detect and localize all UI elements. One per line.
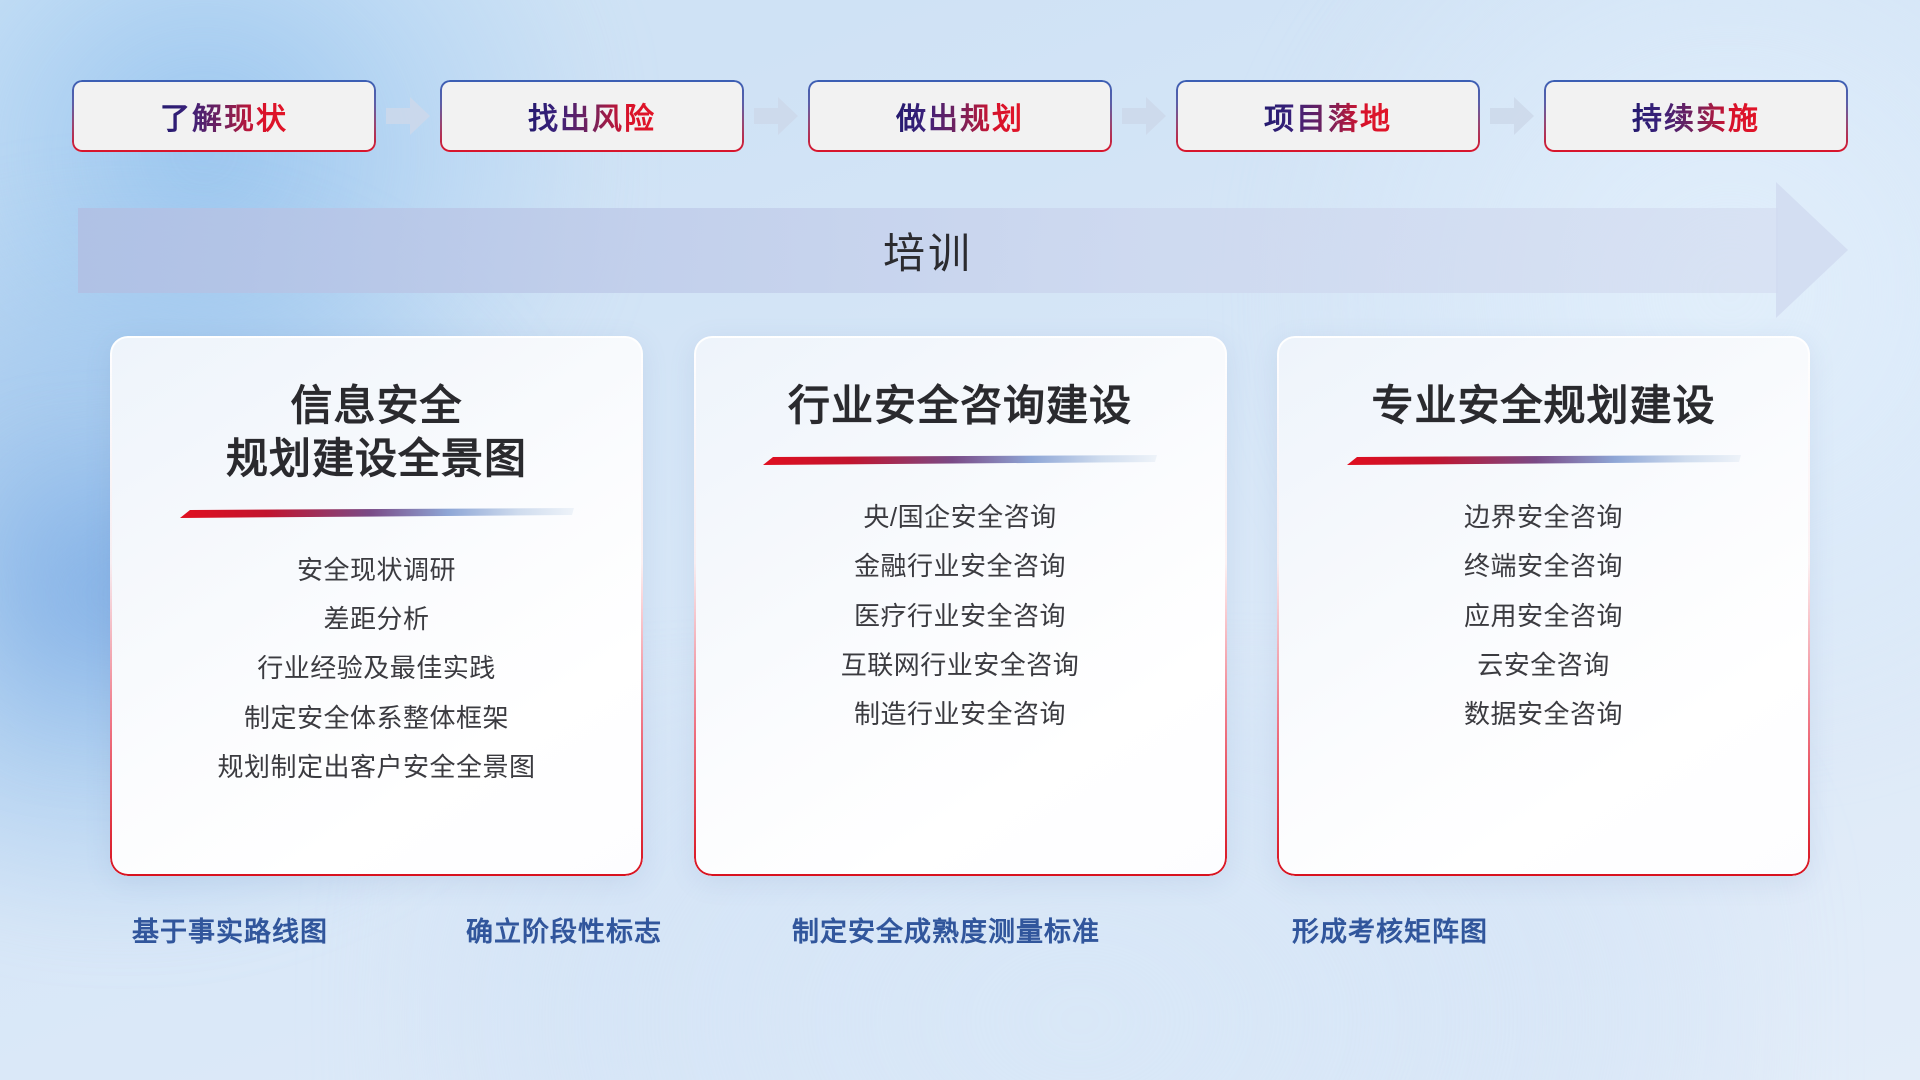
process-step-2[interactable]: 找出风险 xyxy=(440,80,744,152)
step-arrow-icon-3 xyxy=(1112,80,1176,152)
list-item[interactable]: 规划制定出客户安全全景图 xyxy=(217,747,535,787)
training-banner-title: 培训 xyxy=(78,208,1778,293)
feature-card-accent-rule xyxy=(180,508,574,520)
process-step-box[interactable]: 持续实施 xyxy=(1544,80,1848,152)
feature-card-3[interactable]: 专业安全规划建设边界安全咨询终端安全咨询应用安全咨询云安全咨询数据安全咨询 xyxy=(1277,336,1810,876)
feature-card-title: 行业安全咨询建设 xyxy=(788,380,1132,433)
footer-label-2: 确立阶段性标志 xyxy=(466,910,662,949)
list-item[interactable]: 央/国企安全咨询 xyxy=(863,497,1056,537)
process-step-3[interactable]: 做出规划 xyxy=(808,80,1112,152)
process-step-4[interactable]: 项目落地 xyxy=(1176,80,1480,152)
list-item[interactable]: 医疗行业安全咨询 xyxy=(854,596,1066,636)
process-step-box[interactable]: 找出风险 xyxy=(440,80,744,152)
list-item[interactable]: 金融行业安全咨询 xyxy=(854,546,1066,586)
process-step-label: 项目落地 xyxy=(1264,94,1392,138)
feature-card-title: 专业安全规划建设 xyxy=(1371,380,1715,433)
step-arrow-icon-2 xyxy=(744,80,808,152)
footer-label-row: 基于事实路线图确立阶段性标志制定安全成熟度测量标准形成考核矩阵图 xyxy=(0,910,1920,960)
list-item[interactable]: 数据安全咨询 xyxy=(1464,694,1623,734)
process-step-5[interactable]: 持续实施 xyxy=(1544,80,1848,152)
process-step-label: 找出风险 xyxy=(528,94,656,138)
process-step-label: 持续实施 xyxy=(1632,94,1760,138)
step-arrow-icon-1 xyxy=(376,80,440,152)
step-arrow-icon-4 xyxy=(1480,80,1544,152)
process-step-row: 了解现状找出风险做出规划项目落地持续实施 xyxy=(72,78,1848,154)
list-item[interactable]: 终端安全咨询 xyxy=(1464,546,1623,586)
feature-card-inner: 专业安全规划建设边界安全咨询终端安全咨询应用安全咨询云安全咨询数据安全咨询 xyxy=(1277,336,1810,876)
list-item[interactable]: 应用安全咨询 xyxy=(1464,596,1623,636)
feature-card-inner: 行业安全咨询建设央/国企安全咨询金融行业安全咨询医疗行业安全咨询互联网行业安全咨… xyxy=(694,336,1227,876)
process-step-box[interactable]: 了解现状 xyxy=(72,80,376,152)
list-item[interactable]: 制定安全体系整体框架 xyxy=(244,698,509,738)
slide-canvas: 了解现状找出风险做出规划项目落地持续实施 培训 信息安全 规划建设全景图安全现状… xyxy=(0,0,1920,1080)
feature-card-list: 边界安全咨询终端安全咨询应用安全咨询云安全咨询数据安全咨询 xyxy=(1464,497,1623,734)
feature-card-list: 安全现状调研差距分析行业经验及最佳实践制定安全体系整体框架规划制定出客户安全全景… xyxy=(217,550,535,787)
list-item[interactable]: 制造行业安全咨询 xyxy=(854,694,1066,734)
feature-card-accent-rule xyxy=(1347,455,1741,467)
list-item[interactable]: 安全现状调研 xyxy=(297,550,456,590)
process-step-box[interactable]: 项目落地 xyxy=(1176,80,1480,152)
list-item[interactable]: 云安全咨询 xyxy=(1477,645,1610,685)
footer-label-3: 制定安全成熟度测量标准 xyxy=(792,910,1100,949)
feature-card-inner: 信息安全 规划建设全景图安全现状调研差距分析行业经验及最佳实践制定安全体系整体框… xyxy=(110,336,643,876)
feature-card-2[interactable]: 行业安全咨询建设央/国企安全咨询金融行业安全咨询医疗行业安全咨询互联网行业安全咨… xyxy=(694,336,1227,876)
feature-card-list: 央/国企安全咨询金融行业安全咨询医疗行业安全咨询互联网行业安全咨询制造行业安全咨… xyxy=(841,497,1080,734)
footer-label-1: 基于事实路线图 xyxy=(132,910,328,949)
feature-card-accent-rule xyxy=(763,455,1157,467)
process-step-label: 做出规划 xyxy=(896,94,1024,138)
process-step-box[interactable]: 做出规划 xyxy=(808,80,1112,152)
list-item[interactable]: 互联网行业安全咨询 xyxy=(841,645,1080,685)
list-item[interactable]: 行业经验及最佳实践 xyxy=(257,648,496,688)
feature-card-title: 信息安全 规划建设全景图 xyxy=(226,380,527,486)
feature-card-1[interactable]: 信息安全 规划建设全景图安全现状调研差距分析行业经验及最佳实践制定安全体系整体框… xyxy=(110,336,643,876)
training-banner-arrowhead-icon xyxy=(1776,182,1848,318)
list-item[interactable]: 差距分析 xyxy=(323,599,429,639)
feature-card-row: 信息安全 规划建设全景图安全现状调研差距分析行业经验及最佳实践制定安全体系整体框… xyxy=(110,336,1810,876)
training-banner: 培训 xyxy=(78,208,1848,293)
list-item[interactable]: 边界安全咨询 xyxy=(1464,497,1623,537)
footer-label-4: 形成考核矩阵图 xyxy=(1292,910,1488,949)
process-step-1[interactable]: 了解现状 xyxy=(72,80,376,152)
process-step-label: 了解现状 xyxy=(160,94,288,138)
